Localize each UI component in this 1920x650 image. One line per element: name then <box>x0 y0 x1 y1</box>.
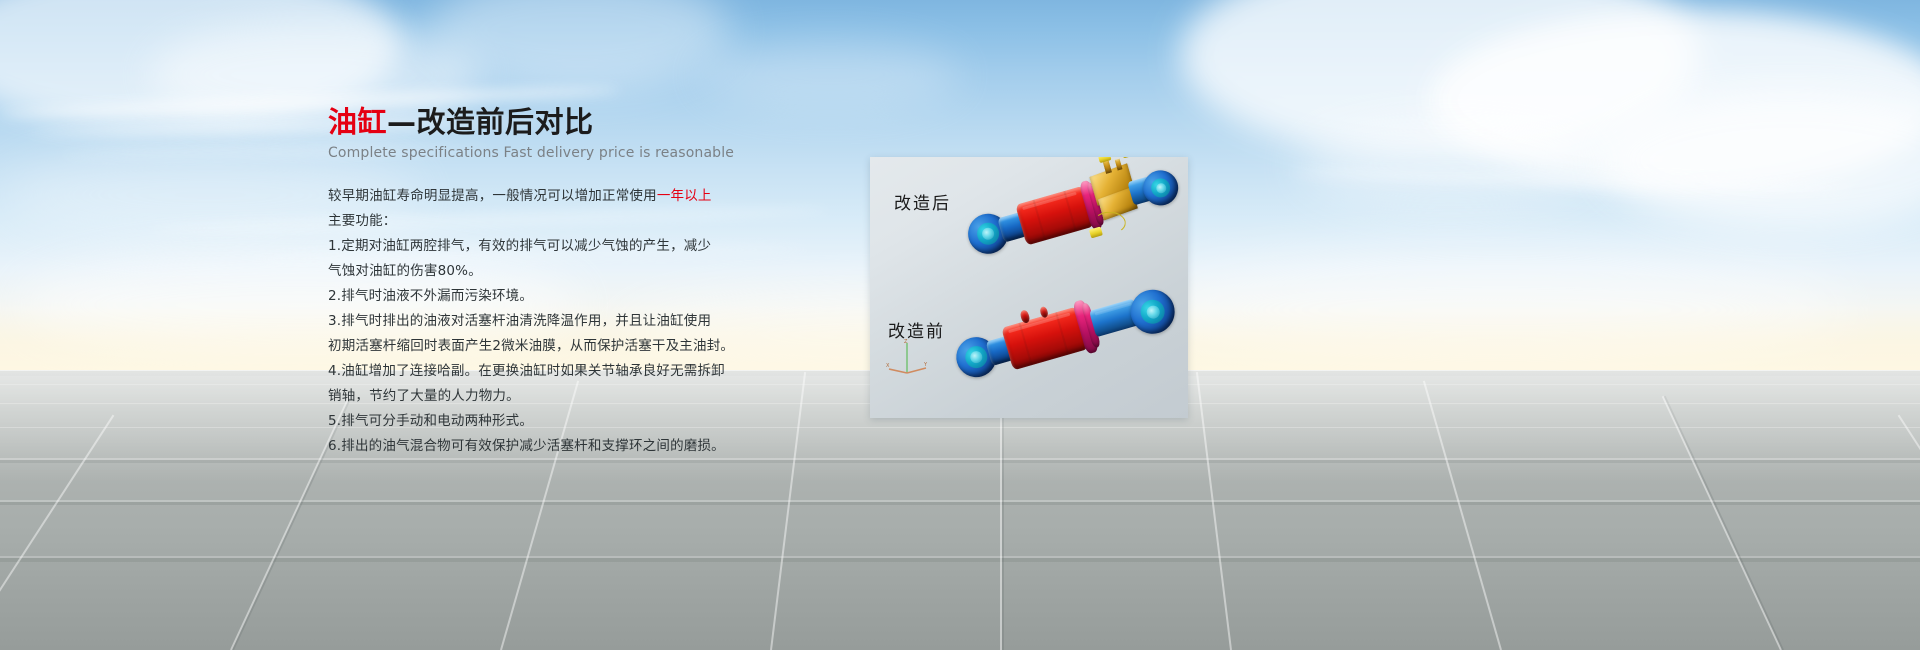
title-highlight: 油缸 <box>328 105 387 139</box>
ground-shade <box>0 460 1920 463</box>
svg-text:Y: Y <box>923 362 928 368</box>
line-pre: 销轴，节约了大量的人力物力。 <box>328 388 520 404</box>
ground-line <box>0 458 1920 460</box>
axis-triad-icon: Z X Y <box>886 339 930 375</box>
svg-text:Z: Z <box>904 339 908 345</box>
ground-line <box>1423 381 1502 650</box>
ground-line <box>0 500 1920 502</box>
description-line: 较早期油缸寿命明显提高，一般情况可以增加正常使用一年以上 <box>328 184 748 209</box>
banner-stage: 油缸—改造前后对比 Complete specifications Fast d… <box>0 0 1920 650</box>
page-subtitle: Complete specifications Fast delivery pr… <box>328 145 758 161</box>
description-line: 6.排出的油气混合物可有效保护减少活塞杆和支撑环之间的磨损。 <box>328 434 748 459</box>
line-pre: 1.定期对油缸两腔排气，有效的排气可以减少气蚀的产生，减少 <box>328 238 711 254</box>
page-title: 油缸—改造前后对比 <box>328 104 758 140</box>
ground-line <box>0 427 1920 428</box>
ground-line <box>1662 396 1782 650</box>
ground-line <box>770 372 806 650</box>
description-text: 较早期油缸寿命明显提高，一般情况可以增加正常使用一年以上 主要功能： 1.定期对… <box>328 184 748 459</box>
line-highlight: 一年以上 <box>657 188 712 204</box>
ground-line <box>1898 415 1920 650</box>
cloud-shape <box>1300 120 1600 210</box>
description-line: 2.排气时油液不外漏而污染环境。 <box>328 284 748 309</box>
description-line: 初期活塞杆缩回时表面产生2微米油膜，从而保护活塞干及主油封。 <box>328 334 748 359</box>
exhaust-cap <box>1122 157 1135 158</box>
label-after: 改造后 <box>894 189 951 214</box>
description-line: 主要功能： <box>328 209 748 234</box>
exhaust-wire <box>1093 211 1126 234</box>
line-pre: 气蚀对油缸的伤害80%。 <box>328 263 482 279</box>
description-line: 4.油缸增加了连接哈副。在更换油缸时如果关节轴承良好无需拆卸 <box>328 359 748 384</box>
description-line: 5.排气可分手动和电动两种形式。 <box>328 409 748 434</box>
line-pre: 较早期油缸寿命明显提高，一般情况可以增加正常使用 <box>328 188 657 204</box>
line-pre: 4.油缸增加了连接哈副。在更换油缸时如果关节轴承良好无需拆卸 <box>328 363 725 379</box>
line-pre: 初期活塞杆缩回时表面产生2微米油膜，从而保护活塞干及主油封。 <box>328 338 734 354</box>
line-pre: 主要功能： <box>328 213 397 229</box>
description-line: 3.排气时排出的油液对活塞杆油清洗降温作用，并且让油缸使用 <box>328 309 748 334</box>
description-line: 销轴，节约了大量的人力物力。 <box>328 384 748 409</box>
line-pre: 5.排气可分手动和电动两种形式。 <box>328 413 533 429</box>
ground-line <box>1196 372 1232 650</box>
ground-shade <box>1664 396 1784 650</box>
product-comparison-image: 改造后 改造前 Z X Y <box>870 157 1188 418</box>
ground-line <box>0 556 1920 558</box>
description-line: 1.定期对油缸两腔排气，有效的排气可以减少气蚀的产生，减少 <box>328 234 748 259</box>
cloud-shape <box>700 40 960 110</box>
ground-shade <box>0 502 1920 505</box>
ground-shade <box>0 558 1920 562</box>
svg-text:X: X <box>886 363 890 369</box>
description-line: 气蚀对油缸的伤害80%。 <box>328 259 748 284</box>
title-rest: —改造前后对比 <box>387 105 594 139</box>
line-pre: 2.排气时油液不外漏而污染环境。 <box>328 288 533 304</box>
line-pre: 3.排气时排出的油液对活塞杆油清洗降温作用，并且让油缸使用 <box>328 313 711 329</box>
ground-line <box>0 415 114 650</box>
banner-content: 油缸—改造前后对比 Complete specifications Fast d… <box>328 104 758 459</box>
line-pre: 6.排出的油气混合物可有效保护减少活塞杆和支撑环之间的磨损。 <box>328 438 725 454</box>
